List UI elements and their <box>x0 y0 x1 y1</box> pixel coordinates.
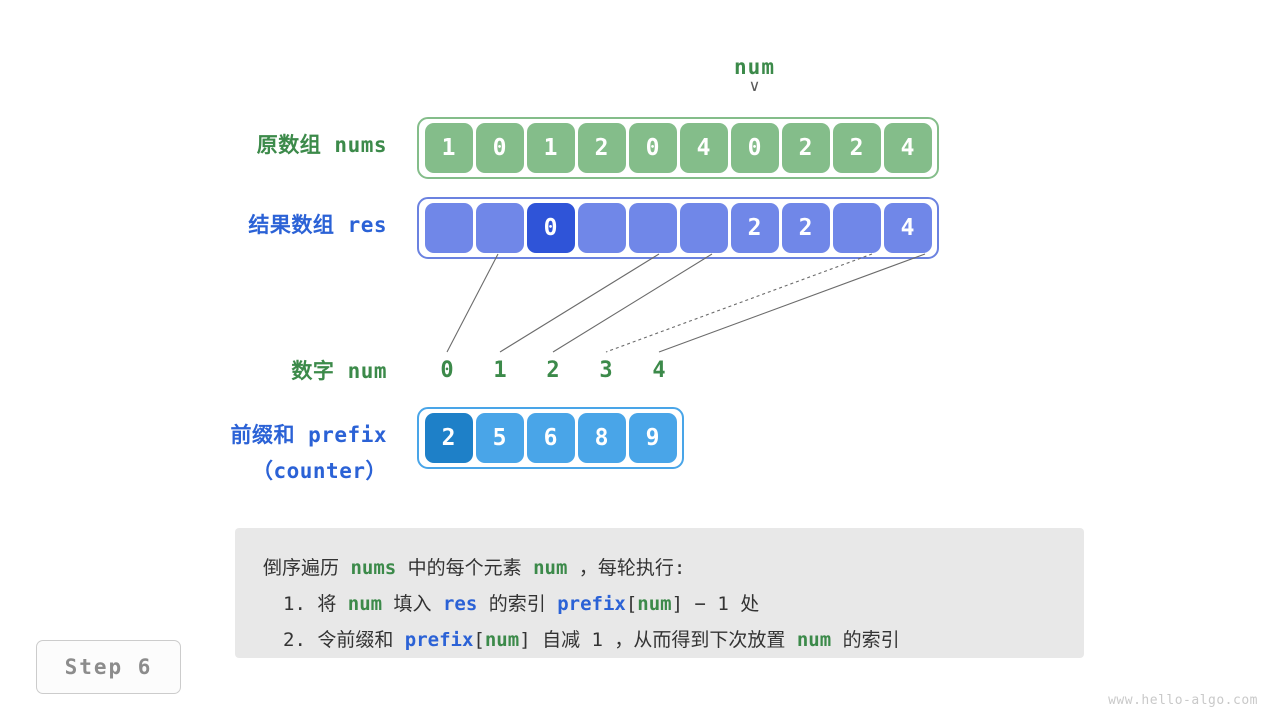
desc2-text-c: 的索引 <box>477 593 557 615</box>
nums-cell-8: 2 <box>833 123 881 173</box>
num-index-digit-4: 4 <box>644 358 674 383</box>
desc1-text-c: ，每轮执行: <box>567 557 685 579</box>
prefix-cell-1: 5 <box>476 413 524 463</box>
desc1-text-b: 中的每个元素 <box>396 557 533 579</box>
desc2-text-b: 填入 <box>382 593 443 615</box>
desc1-kw-num: num <box>533 557 567 579</box>
nums-row-label: 原数组 nums <box>140 132 387 158</box>
desc3-text-d: 的索引 <box>831 629 899 651</box>
num-index-digit-0: 0 <box>432 358 462 383</box>
res-cell-3 <box>578 203 626 253</box>
description-line-1: 倒序遍历 nums 中的每个元素 num ，每轮执行: <box>263 550 1084 586</box>
desc2-text-e: ] − 1 处 <box>672 593 760 615</box>
desc2-kw-prefix: prefix <box>557 593 626 615</box>
nums-cell-9: 4 <box>884 123 932 173</box>
prefix-row-label-line2: （counter） <box>100 458 387 484</box>
prefix-cell-3: 8 <box>578 413 626 463</box>
prefix-array: 25689 <box>417 407 684 469</box>
desc3-kw-prefix: prefix <box>405 629 474 651</box>
res-cell-6: 2 <box>731 203 779 253</box>
nums-array: 1012040224 <box>417 117 939 179</box>
res-cell-1 <box>476 203 524 253</box>
desc3-kw-num2: num <box>797 629 831 651</box>
step-badge: Step 6 <box>36 640 181 694</box>
res-cell-8 <box>833 203 881 253</box>
num-pointer: num ∨ <box>725 55 785 93</box>
num-index-digit-1: 1 <box>485 358 515 383</box>
res-cell-7: 2 <box>782 203 830 253</box>
num-index-row-label: 数字 num <box>140 358 387 384</box>
nums-cell-0: 1 <box>425 123 473 173</box>
res-cell-5 <box>680 203 728 253</box>
prefix-cell-4: 9 <box>629 413 677 463</box>
nums-cell-6: 0 <box>731 123 779 173</box>
prefix-cell-2: 6 <box>527 413 575 463</box>
desc2-kw-num: num <box>348 593 382 615</box>
desc2-text-d: [ <box>626 593 637 615</box>
prefix-row-label-line1: 前缀和 prefix <box>100 422 387 448</box>
desc1-kw-nums: nums <box>350 557 396 579</box>
desc2-kw-res: res <box>443 593 477 615</box>
num-index-digit-3: 3 <box>591 358 621 383</box>
num-index-digit-2: 2 <box>538 358 568 383</box>
nums-cell-4: 0 <box>629 123 677 173</box>
nums-cell-3: 2 <box>578 123 626 173</box>
prefix-cell-0: 2 <box>425 413 473 463</box>
description-box: 倒序遍历 nums 中的每个元素 num ，每轮执行: 1. 将 num 填入 … <box>235 528 1084 658</box>
description-line-2: 1. 将 num 填入 res 的索引 prefix[num] − 1 处 <box>263 586 1084 622</box>
description-line-3: 2. 令前缀和 prefix[num] 自减 1 ，从而得到下次放置 num 的… <box>263 622 1084 658</box>
res-cell-4 <box>629 203 677 253</box>
down-arrow-icon: ∨ <box>725 79 785 93</box>
nums-cell-5: 4 <box>680 123 728 173</box>
res-row-label: 结果数组 res <box>140 212 387 238</box>
res-array: 0224 <box>417 197 939 259</box>
desc3-text-b: [ <box>473 629 484 651</box>
desc1-text-a: 倒序遍历 <box>263 557 350 579</box>
nums-cell-7: 2 <box>782 123 830 173</box>
desc2-kw-num2: num <box>637 593 671 615</box>
desc3-text-a: 2. 令前缀和 <box>283 629 405 651</box>
res-cell-2: 0 <box>527 203 575 253</box>
desc2-text-a: 1. 将 <box>283 593 348 615</box>
desc3-kw-num: num <box>485 629 519 651</box>
desc3-text-c: ] 自减 1 ，从而得到下次放置 <box>519 629 797 651</box>
nums-cell-1: 0 <box>476 123 524 173</box>
res-cell-0 <box>425 203 473 253</box>
res-cell-9: 4 <box>884 203 932 253</box>
diagram-canvas: num ∨ 原数组 nums 1012040224 结果数组 res 0224 … <box>0 0 1280 720</box>
watermark: www.hello-algo.com <box>1108 693 1258 708</box>
nums-cell-2: 1 <box>527 123 575 173</box>
